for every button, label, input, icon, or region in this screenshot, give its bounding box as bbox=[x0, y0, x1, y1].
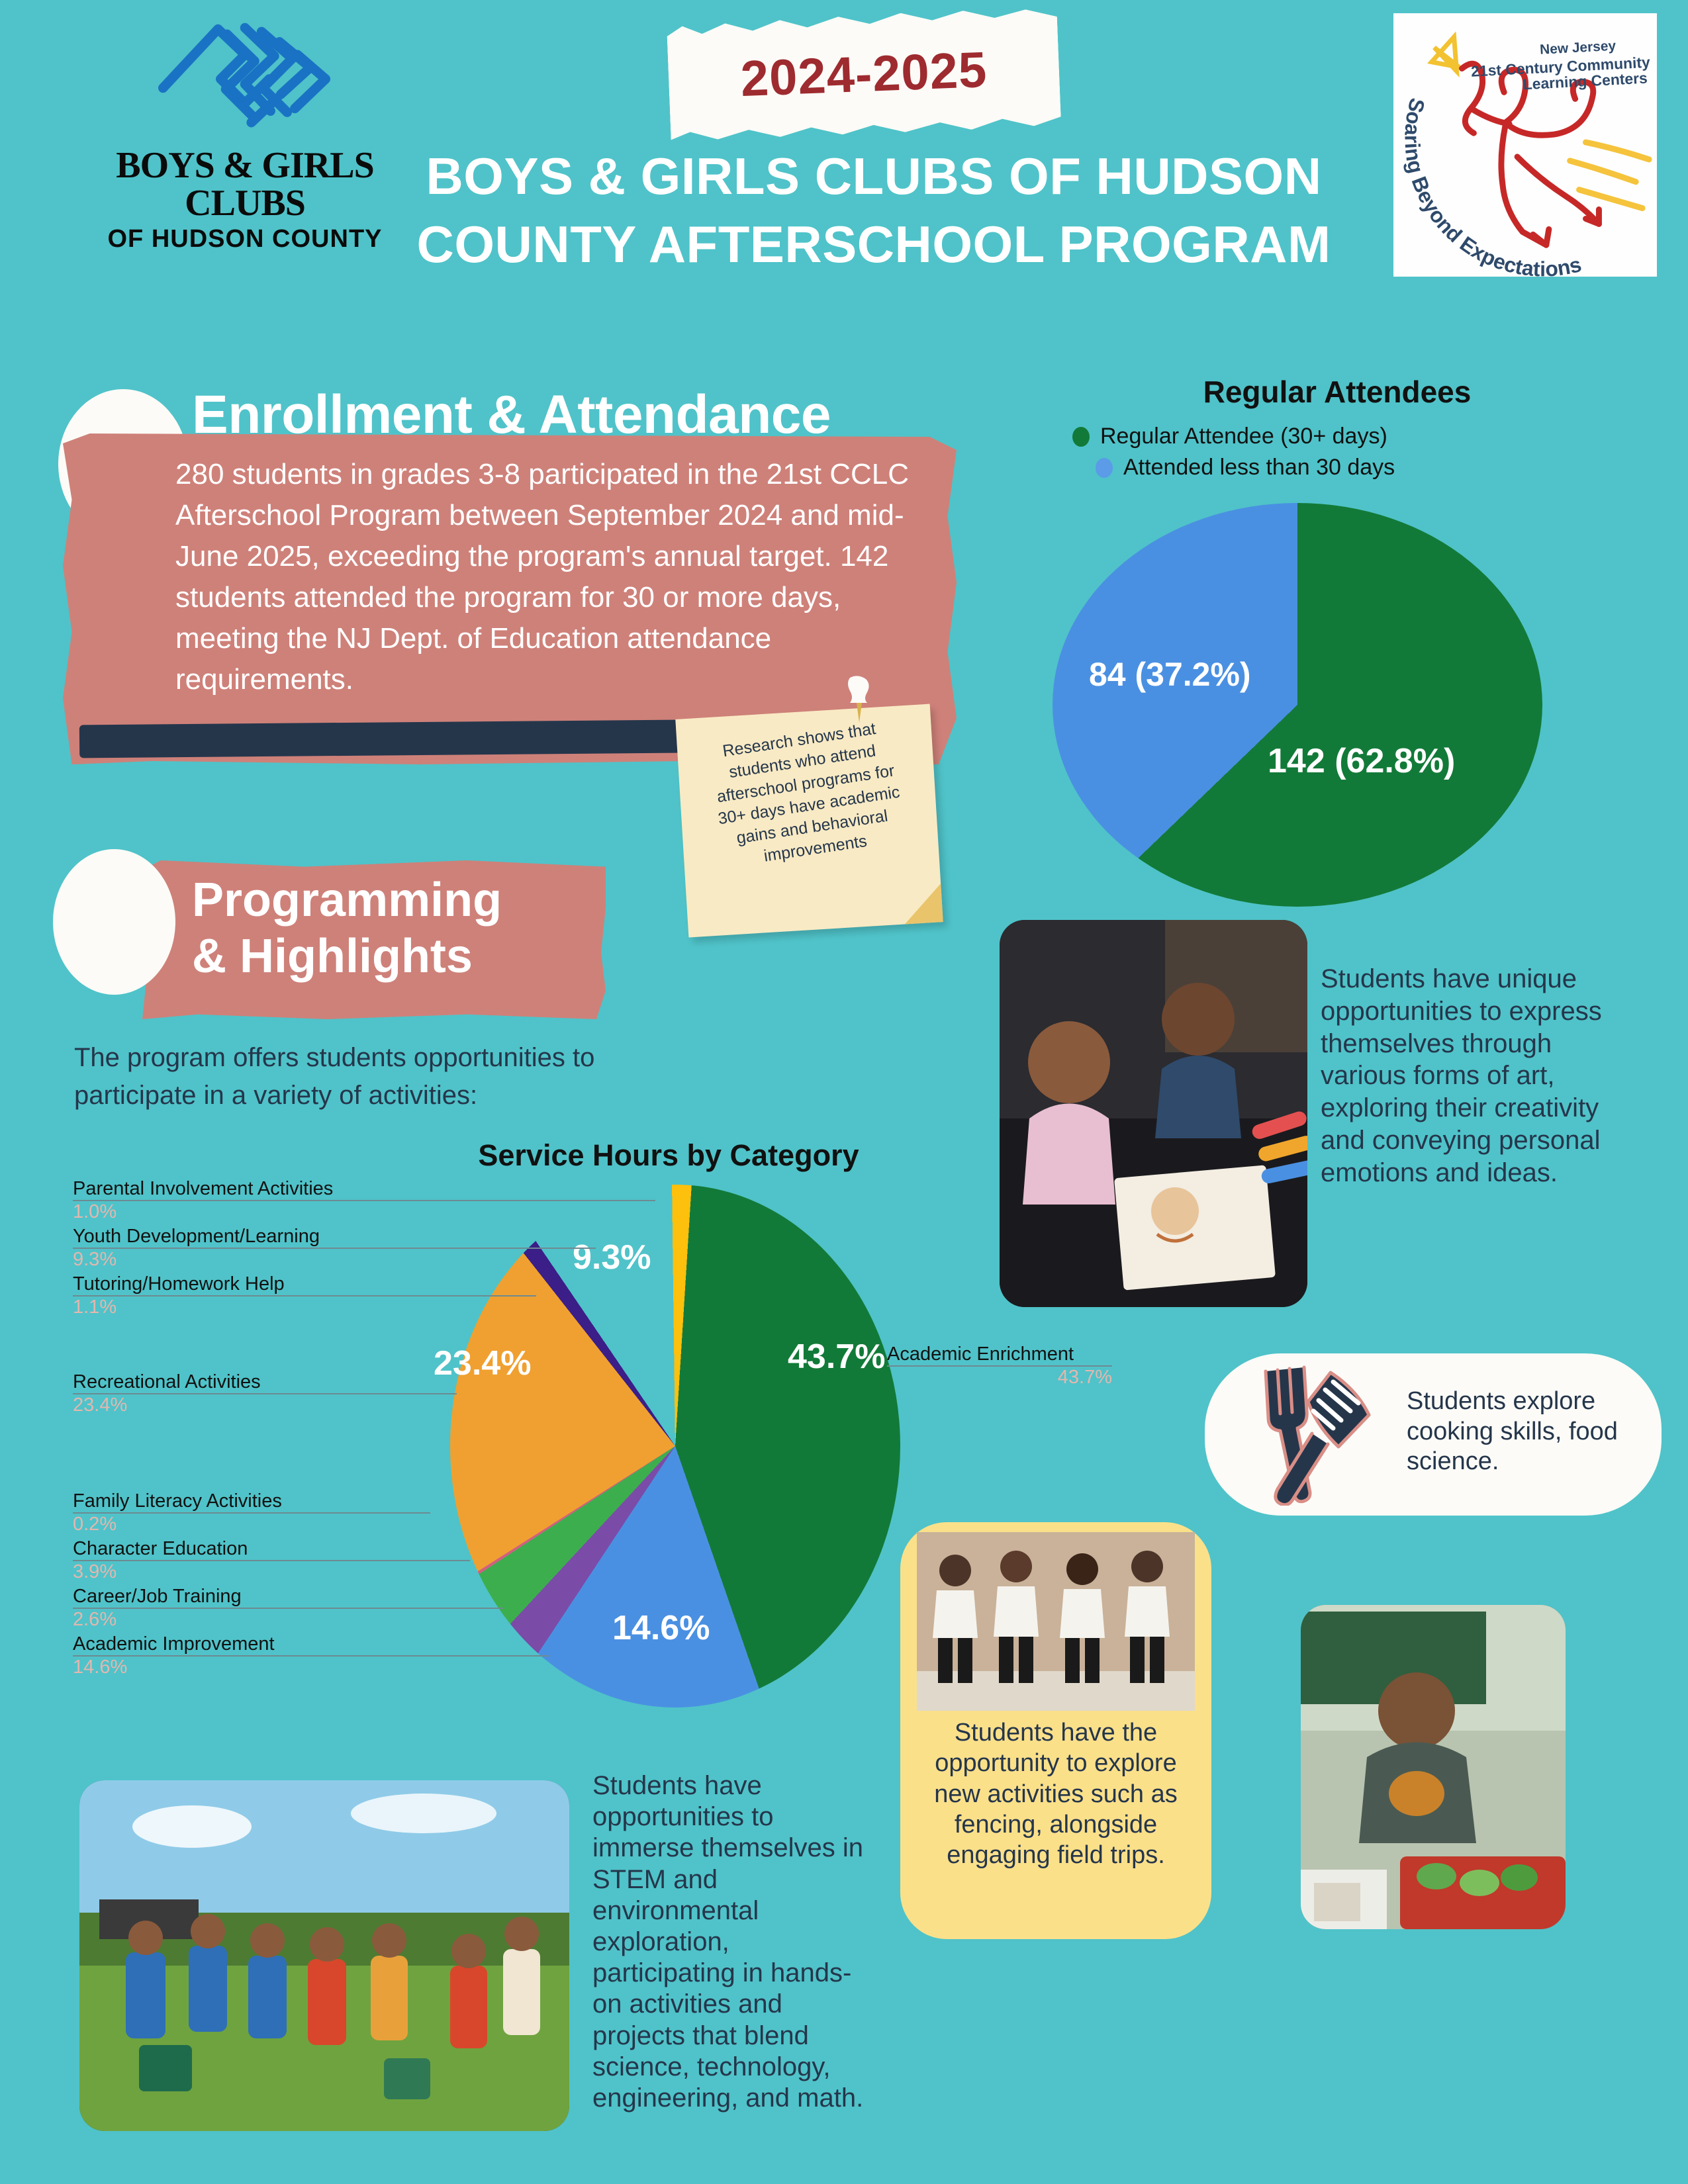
callout-parental-involvement-label: Parental Involvement Activities bbox=[73, 1178, 655, 1200]
nj-logo-art: New Jersey 21st Century Community Learni… bbox=[1393, 13, 1657, 277]
callout-character-education-value: 3.9% bbox=[73, 1561, 470, 1583]
section2-heading-line1: Programming bbox=[192, 872, 502, 929]
year-badge: 2024-2025 bbox=[667, 7, 1061, 142]
bgc-handshake-icon bbox=[149, 12, 341, 141]
legend-dot-blue bbox=[1096, 458, 1113, 478]
callout-recreational: Recreational Activities 23.4% bbox=[73, 1371, 457, 1416]
photo-farm-field-trip bbox=[79, 1780, 569, 2131]
callout-youth-development-label: Youth Development/Learning bbox=[73, 1226, 596, 1248]
callout-academic-improvement-value: 14.6% bbox=[73, 1657, 549, 1678]
callout-academic-enrichment: Academic Enrichment 43.7% bbox=[887, 1343, 1112, 1388]
highlight-art-text: Students have unique opportunities to ex… bbox=[1321, 963, 1618, 1189]
callout-academic-enrichment-value: 43.7% bbox=[887, 1367, 1112, 1388]
callout-recreational-value: 23.4% bbox=[73, 1394, 457, 1416]
sticky-note: Research shows that students who attend … bbox=[675, 704, 943, 938]
callout-tutoring: Tutoring/Homework Help 1.1% bbox=[73, 1273, 536, 1318]
callout-academic-improvement: Academic Improvement 14.6% bbox=[73, 1633, 549, 1678]
section2-oval-accent bbox=[53, 849, 175, 995]
section2-heading-line2: & Highlights bbox=[192, 929, 502, 985]
callout-academic-improvement-label: Academic Improvement bbox=[73, 1633, 549, 1655]
callout-academic-enrichment-label: Academic Enrichment bbox=[887, 1343, 1112, 1365]
service-hours-chart-title: Service Hours by Category bbox=[450, 1138, 887, 1173]
photo-art-students-image bbox=[1000, 920, 1307, 1307]
photo-cooking-student bbox=[1301, 1605, 1566, 1929]
legend-label-less: Attended less than 30 days bbox=[1123, 455, 1395, 480]
sticky-note-fold bbox=[902, 884, 943, 924]
highlight-stem-text: Students have opportunities to immerse t… bbox=[592, 1770, 870, 2114]
page-title: BOYS & GIRLS CLUBS OF HUDSON COUNTY AFTE… bbox=[371, 142, 1377, 279]
fork-spatula-icon bbox=[1251, 1363, 1383, 1506]
pie-label-less-than-30: 84 (37.2%) bbox=[1089, 655, 1251, 694]
callout-parental-involvement: Parental Involvement Activities 1.0% bbox=[73, 1178, 655, 1223]
callout-character-education: Character Education 3.9% bbox=[73, 1538, 470, 1583]
callout-tutoring-value: 1.1% bbox=[73, 1297, 536, 1318]
callout-family-literacy-label: Family Literacy Activities bbox=[73, 1490, 430, 1512]
section1-body-text: 280 students in grades 3-8 participated … bbox=[175, 454, 917, 700]
photo-farm-field-trip-image bbox=[79, 1780, 569, 2131]
callout-career-training-label: Career/Job Training bbox=[73, 1586, 503, 1608]
callout-tutoring-label: Tutoring/Homework Help bbox=[73, 1273, 536, 1295]
sticky-note-text: Research shows that students who attend … bbox=[694, 714, 921, 876]
callout-family-literacy-value: 0.2% bbox=[73, 1514, 430, 1535]
legend-item-regular: Regular Attendee (30+ days) bbox=[1072, 424, 1615, 449]
regular-attendees-legend: Regular Attendee (30+ days) Attended les… bbox=[1072, 424, 1615, 486]
pie-label-regular: 142 (62.8%) bbox=[1268, 741, 1455, 781]
bgc-logo-name: BOYS & GIRLS CLUBS bbox=[79, 147, 410, 222]
highlight-fencing-text: Students have the opportunity to explore… bbox=[917, 1717, 1195, 1871]
regular-attendees-pie bbox=[1053, 503, 1542, 907]
callout-career-training: Career/Job Training 2.6% bbox=[73, 1586, 503, 1631]
photo-cooking-student-image bbox=[1301, 1605, 1566, 1929]
section2-heading: Programming & Highlights bbox=[192, 872, 502, 985]
pushpin-icon bbox=[841, 675, 875, 728]
callout-career-training-value: 2.6% bbox=[73, 1609, 503, 1631]
bgc-logo: BOYS & GIRLS CLUBS OF HUDSON COUNTY bbox=[79, 12, 410, 253]
regular-attendees-pie-slices bbox=[1053, 503, 1542, 907]
regular-attendees-chart-title: Regular Attendees bbox=[1072, 374, 1602, 410]
infographic-page: BOYS & GIRLS CLUBS OF HUDSON COUNTY 2024… bbox=[0, 0, 1688, 2184]
callout-youth-development: Youth Development/Learning 9.3% bbox=[73, 1226, 596, 1271]
callout-family-literacy: Family Literacy Activities 0.2% bbox=[73, 1490, 430, 1535]
legend-item-less: Attended less than 30 days bbox=[1072, 455, 1615, 480]
svg-text:New Jersey: New Jersey bbox=[1540, 38, 1617, 58]
legend-dot-green bbox=[1072, 427, 1090, 447]
photo-fencing-students-image bbox=[917, 1532, 1195, 1711]
callout-youth-development-value: 9.3% bbox=[73, 1249, 596, 1271]
highlight-cooking-text: Students explore cooking skills, food sc… bbox=[1407, 1387, 1638, 1477]
photo-art-students bbox=[1000, 920, 1307, 1307]
bgc-logo-subname: OF HUDSON COUNTY bbox=[79, 225, 410, 253]
callout-parental-involvement-value: 1.0% bbox=[73, 1201, 655, 1223]
callout-recreational-label: Recreational Activities bbox=[73, 1371, 457, 1393]
nj-21cclc-logo: New Jersey 21st Century Community Learni… bbox=[1393, 13, 1657, 277]
photo-fencing-students bbox=[917, 1532, 1195, 1711]
section2-intro-text: The program offers students opportunitie… bbox=[74, 1039, 657, 1115]
callout-character-education-label: Character Education bbox=[73, 1538, 470, 1560]
legend-label-regular: Regular Attendee (30+ days) bbox=[1100, 424, 1387, 449]
year-badge-label: 2024-2025 bbox=[739, 40, 988, 107]
section1-heading: Enrollment & Attendance bbox=[192, 384, 831, 446]
